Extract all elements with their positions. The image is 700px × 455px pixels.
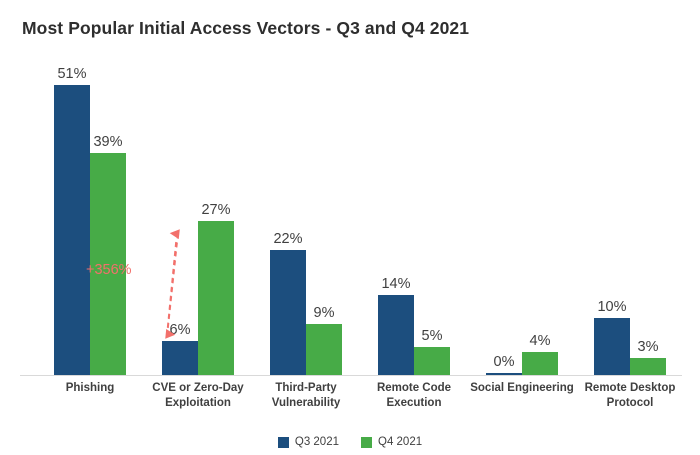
bar-value-label: 51%	[42, 66, 102, 82]
bar-group: 0%4%	[468, 62, 576, 375]
x-axis-line	[20, 375, 682, 376]
chart-legend: Q3 2021 Q4 2021	[0, 436, 700, 448]
bar-group-bars: 10%3%	[576, 62, 684, 375]
category-label: Remote DesktopProtocol	[565, 381, 695, 410]
bar-q4[interactable]	[306, 324, 342, 375]
bar-q3[interactable]	[54, 85, 90, 375]
bar-value-label: 4%	[510, 333, 570, 349]
bar-group: 51%39%	[36, 62, 144, 375]
bar-value-label: 14%	[366, 276, 426, 292]
annotation-label: +356%	[86, 262, 132, 278]
legend-label-q3: Q3 2021	[295, 436, 339, 448]
bar-group-bars: 0%4%	[468, 62, 576, 375]
bar-value-label: 39%	[78, 134, 138, 150]
bar-q4[interactable]	[630, 358, 666, 375]
legend-swatch-q4	[361, 437, 372, 448]
bar-value-label: 5%	[402, 328, 462, 344]
bar-group-bars: 6%27%	[144, 62, 252, 375]
legend-item-q3[interactable]: Q3 2021	[278, 436, 339, 448]
plot-area: 51%39%6%27%22%9%14%5%0%4%10%3%	[20, 62, 680, 375]
legend-swatch-q3	[278, 437, 289, 448]
bar-group-bars: 51%39%	[36, 62, 144, 375]
category-label-line: Remote Desktop	[565, 381, 695, 396]
bar-value-label: 27%	[186, 202, 246, 218]
bar-group-bars: 14%5%	[360, 62, 468, 375]
bar-value-label: 22%	[258, 231, 318, 247]
category-label-line: Execution	[349, 396, 479, 411]
bar-q4[interactable]	[198, 221, 234, 375]
bar-group: 14%5%	[360, 62, 468, 375]
bar-value-label: 10%	[582, 299, 642, 315]
bar-group: 22%9%	[252, 62, 360, 375]
category-label-line: Protocol	[565, 396, 695, 411]
legend-item-q4[interactable]: Q4 2021	[361, 436, 422, 448]
chart-title: Most Popular Initial Access Vectors - Q3…	[22, 18, 469, 39]
bar-group-bars: 22%9%	[252, 62, 360, 375]
legend-label-q4: Q4 2021	[378, 436, 422, 448]
bar-value-label: 9%	[294, 305, 354, 321]
bar-q4[interactable]	[414, 347, 450, 375]
bar-q3[interactable]	[162, 341, 198, 375]
bar-group: 6%27%	[144, 62, 252, 375]
bar-value-label: 3%	[618, 339, 678, 355]
bar-group: 10%3%	[576, 62, 684, 375]
bar-q4[interactable]	[522, 352, 558, 375]
